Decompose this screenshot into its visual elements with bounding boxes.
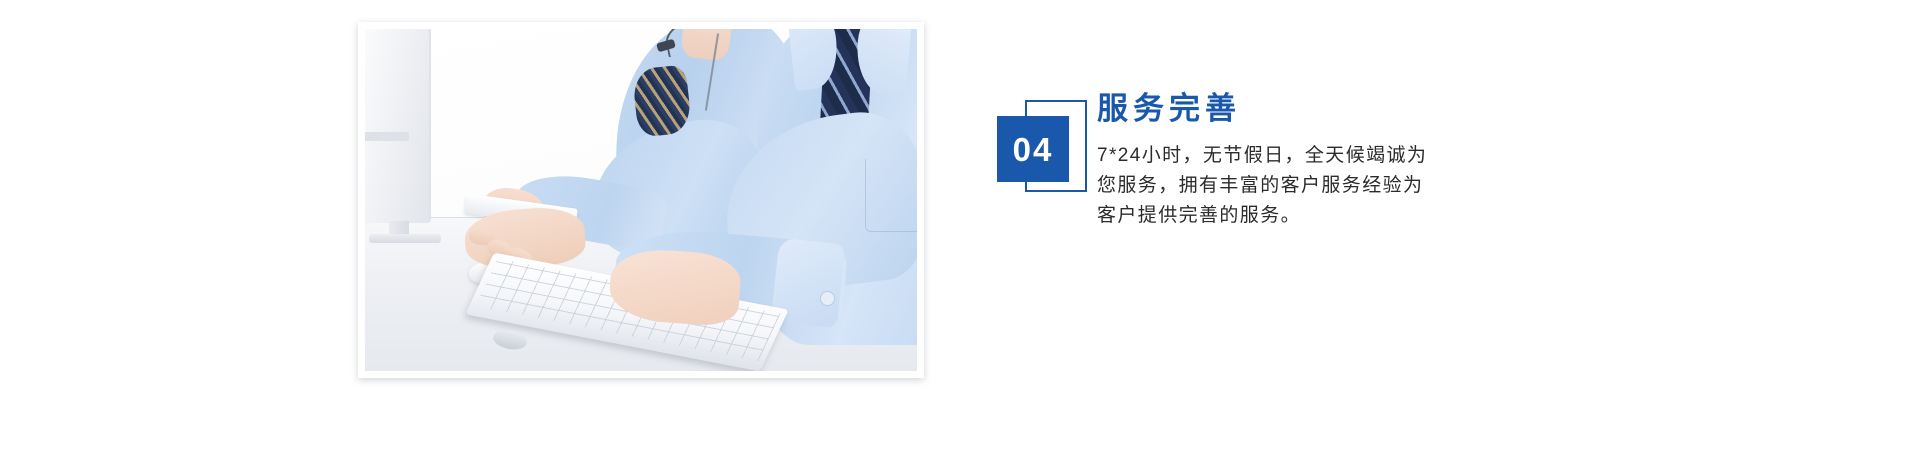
monitor-logo: [365, 132, 409, 141]
description-line: 您服务，拥有丰富的客户服务经验为: [1097, 171, 1617, 201]
feature-text-column: 服务完善 7*24小时，无节假日，全天候竭诚为 您服务，拥有丰富的客户服务经验为…: [1097, 90, 1617, 231]
feature-heading: 服务完善: [1097, 90, 1617, 129]
badge-number: 04: [1013, 133, 1054, 166]
agent-front-shirt-pocket: [865, 159, 917, 232]
description-line: 客户提供完善的服务。: [1097, 201, 1617, 231]
customer-service-photo: [365, 29, 917, 371]
feature-description: 7*24小时，无节假日，全天候竭诚为 您服务，拥有丰富的客户服务经验为 客户提供…: [1097, 141, 1617, 231]
badge-square: 04: [997, 116, 1069, 182]
monitor-stand-base: [369, 234, 441, 243]
cuff-button: [820, 291, 835, 306]
photo-frame: [358, 22, 924, 378]
description-line: 7*24小时，无节假日，全天候竭诚为: [1097, 141, 1617, 171]
monitor-icon: [365, 29, 431, 223]
step-badge: 04: [997, 100, 1093, 204]
service-feature-banner: 04 服务完善 7*24小时，无节假日，全天候竭诚为 您服务，拥有丰富的客户服务…: [0, 0, 1920, 452]
